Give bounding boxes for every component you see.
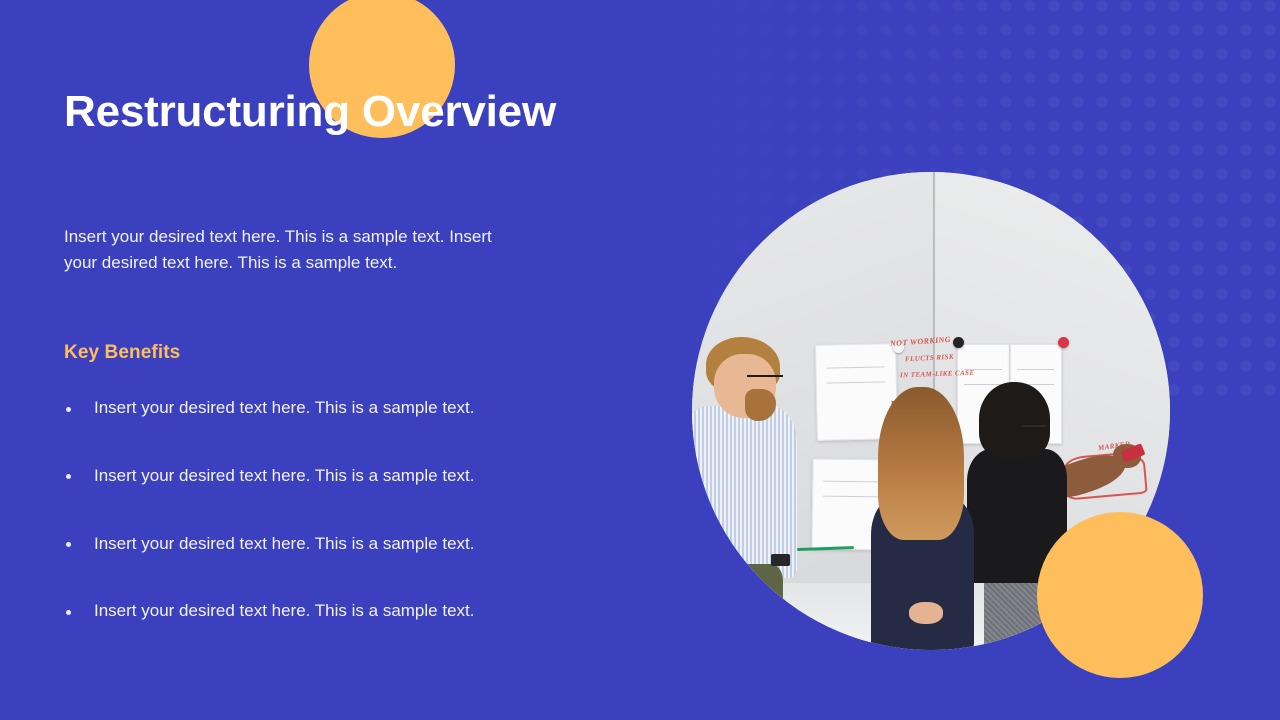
person-left-torso xyxy=(692,406,797,578)
list-item-label: Insert your desired text here. This is a… xyxy=(94,601,474,620)
page-title: Restructuring Overview xyxy=(64,84,564,140)
magnet-pin xyxy=(953,337,964,348)
list-item: Insert your desired text here. This is a… xyxy=(64,396,594,420)
bullet-icon xyxy=(66,474,71,479)
intro-paragraph: Insert your desired text here. This is a… xyxy=(64,224,494,277)
person-left-beard xyxy=(745,389,776,420)
benefits-list: Insert your desired text here. This is a… xyxy=(64,396,594,667)
magnet-pin xyxy=(1058,337,1069,348)
slide-text-column: Restructuring Overview Insert your desir… xyxy=(64,0,624,720)
list-item-label: Insert your desired text here. This is a… xyxy=(94,534,474,553)
section-heading-key-benefits: Key Benefits xyxy=(64,342,180,364)
bullet-icon xyxy=(66,610,71,615)
person-right-hair xyxy=(979,382,1051,458)
list-item: Insert your desired text here. This is a… xyxy=(64,464,594,488)
bullet-icon xyxy=(66,542,71,547)
person-left-legs xyxy=(702,564,783,650)
person-left-watch xyxy=(771,554,790,566)
bullet-icon xyxy=(66,407,71,412)
list-item-label: Insert your desired text here. This is a… xyxy=(94,398,474,417)
person-right-glasses xyxy=(1022,425,1046,427)
list-item: Insert your desired text here. This is a… xyxy=(64,599,594,623)
list-item-label: Insert your desired text here. This is a… xyxy=(94,466,474,485)
orange-circle-bottom-right xyxy=(1037,512,1203,678)
person-center-hands xyxy=(909,602,942,624)
person-center-hair xyxy=(878,387,964,540)
person-left-glasses xyxy=(747,375,783,377)
list-item: Insert your desired text here. This is a… xyxy=(64,532,594,556)
